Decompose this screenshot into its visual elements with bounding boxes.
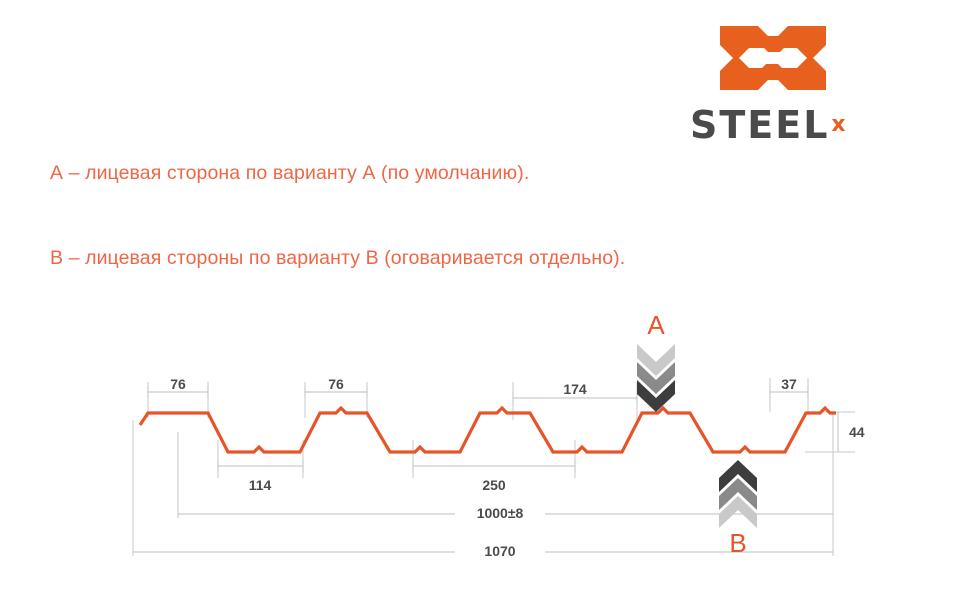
marker-b-chevrons-icon [719,460,757,528]
witness-lines [133,378,855,556]
corrugated-profile-polyline [140,408,836,452]
dim-total-width: 1070 [484,543,515,559]
dim-top-flat-1: 76 [170,376,186,392]
dim-valley-114: 114 [249,477,272,493]
marker-b-letter: B [729,528,746,558]
marker-a-chevrons-icon [637,344,675,412]
dim-pitch-250: 250 [482,477,505,493]
dim-working-width: 1000±8 [477,505,524,521]
dim-height-44: 44 [849,424,865,440]
marker-a-letter: A [647,310,665,340]
profile-spec-page: STEEL x А – лицевая сторона по варианту … [0,0,970,597]
dim-top-flat-2: 76 [328,376,344,392]
dim-top-span-174: 174 [563,381,586,397]
dim-top-flat-right-37: 37 [781,376,797,392]
